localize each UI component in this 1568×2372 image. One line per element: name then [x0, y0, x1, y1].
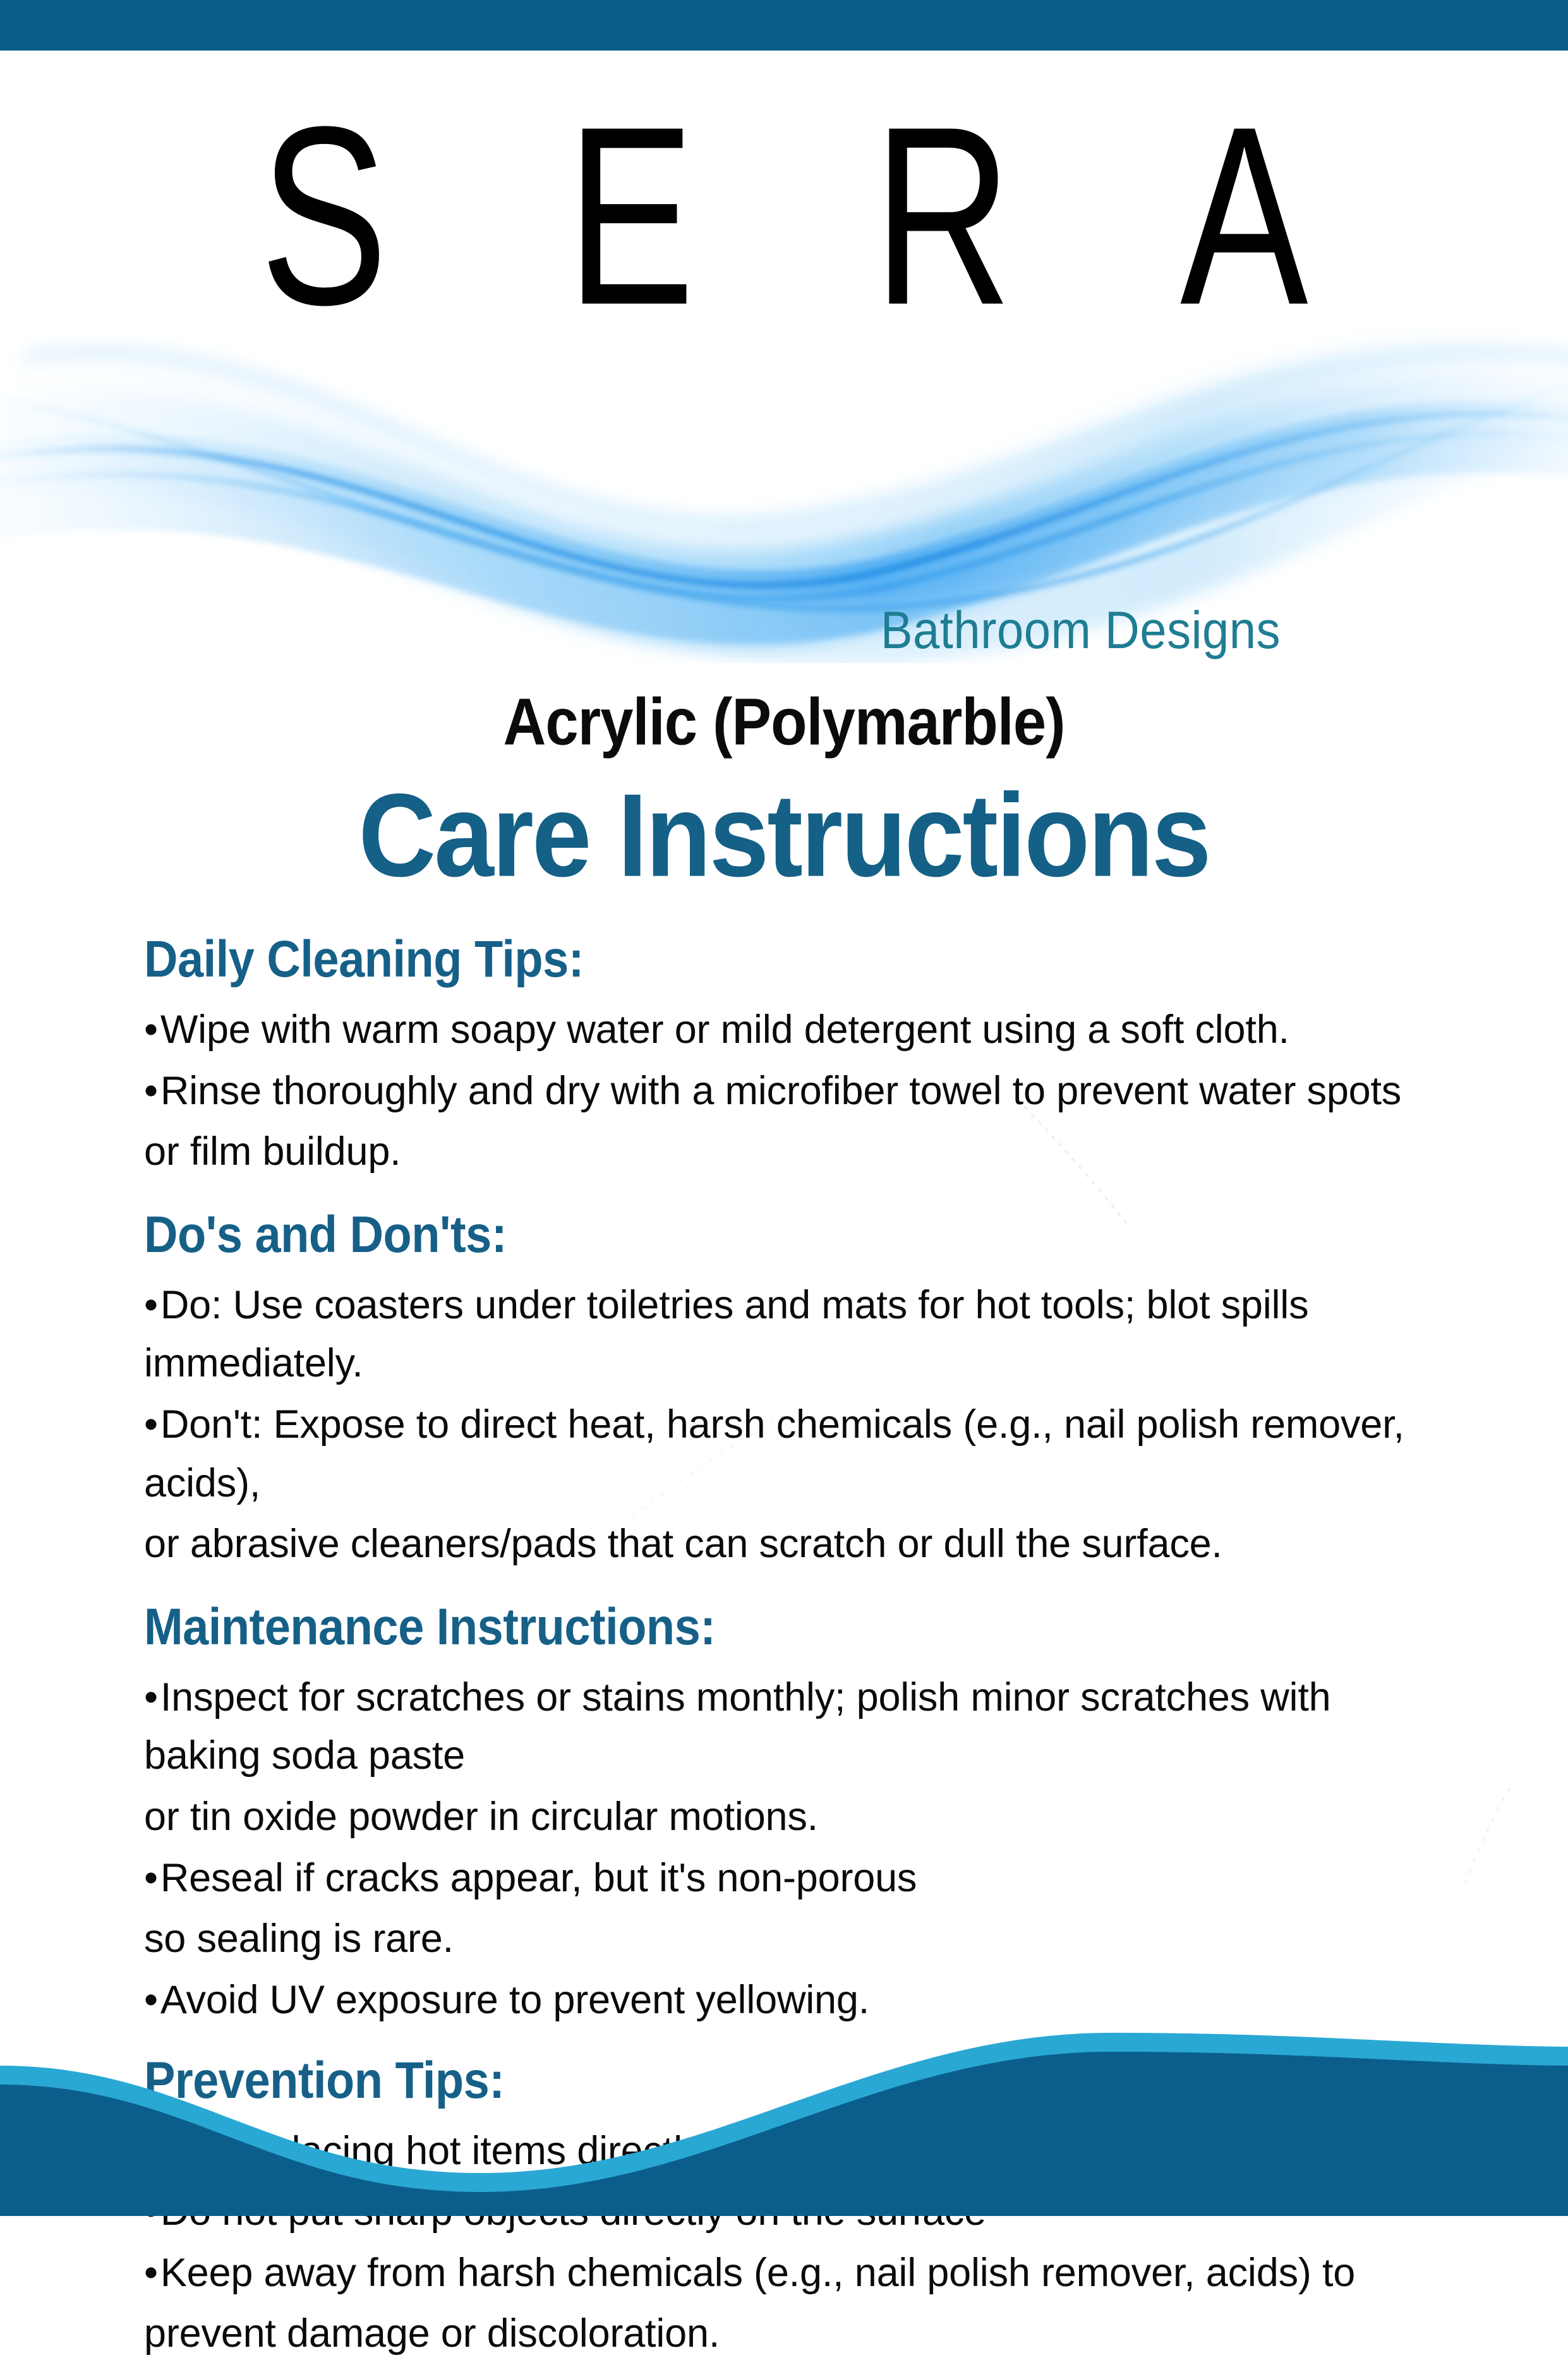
section-dos-and-donts: Do's and Don'ts: •Do: Use coasters under…	[144, 1209, 1426, 1574]
bullet-glyph: •	[144, 2251, 158, 2295]
section-heading: Maintenance Instructions:	[144, 1601, 721, 1653]
logo-wordmark-container: S E R A	[0, 95, 1568, 293]
section-header: Daily Cleaning Tips:	[144, 934, 1426, 992]
section-heading: Daily Cleaning Tips:	[144, 934, 590, 985]
list-item: •Reseal if cracks appear, but it's non-p…	[144, 1849, 1426, 1908]
list-item-text: Don't: Expose to direct heat, harsh chem…	[144, 1402, 1404, 1505]
wave-ribbon-cross	[0, 366, 1568, 663]
bullet-glyph: •	[144, 1675, 158, 1719]
page-title: Care Instructions	[0, 768, 1568, 904]
list-item-continuation: or tin oxide powder in circular motions.	[144, 1788, 1426, 1846]
bullet-glyph: •	[144, 1283, 158, 1327]
section-maintenance-instructions: Maintenance Instructions: •Inspect for s…	[144, 1601, 1426, 2030]
bullet-glyph: •	[144, 1856, 158, 1900]
list-item: •Wipe with warm soapy water or mild dete…	[144, 1001, 1426, 1059]
wave-stroke-4	[25, 352, 1568, 523]
wave-stroke-3	[0, 374, 1568, 609]
bullet-glyph: •	[144, 1008, 158, 1052]
section-rule-gradient	[721, 1619, 1426, 1632]
product-subtitle: Acrylic (Polymarble)	[0, 683, 1568, 760]
list-item: •Inspect for scratches or stains monthly…	[144, 1668, 1426, 1785]
footer-wave-graphic	[0, 2008, 1568, 2216]
section-bullets: •Inspect for scratches or stains monthly…	[144, 1668, 1426, 2030]
section-header: Do's and Don'ts:	[144, 1209, 1426, 1267]
section-bullets: •Wipe with warm soapy water or mild dete…	[144, 1001, 1426, 1181]
list-item-text: Do: Use coasters under toiletries and ma…	[144, 1283, 1308, 1386]
list-item: •Do: Use coasters under toiletries and m…	[144, 1276, 1426, 1393]
wave-stroke-2	[0, 434, 1568, 598]
logo-wordmark: S E R A	[63, 95, 1505, 336]
list-item-text: Rinse thoroughly and dry with a microfib…	[160, 1069, 1401, 1113]
bullet-glyph: •	[144, 1069, 158, 1113]
list-item: •Rinse thoroughly and dry with a microfi…	[144, 1062, 1426, 1121]
list-item: •Don't: Expose to direct heat, harsh che…	[144, 1395, 1426, 1512]
brand-tagline: Bathroom Designs	[881, 600, 1281, 661]
list-item-text: Wipe with warm soapy water or mild deter…	[160, 1008, 1289, 1052]
list-item-text: Inspect for scratches or stains monthly;…	[144, 1675, 1330, 1778]
section-heading: Do's and Don'ts:	[144, 1209, 513, 1260]
section-bullets: •Do: Use coasters under toiletries and m…	[144, 1276, 1426, 1574]
section-daily-cleaning-tips: Daily Cleaning Tips: •Wipe with warm soa…	[144, 934, 1426, 1181]
list-item-continuation: or film buildup.	[144, 1123, 1426, 1181]
watermark-wisp-2	[1447, 1788, 1523, 1889]
list-item-continuation: so sealing is rare.	[144, 1910, 1426, 1968]
wave-ribbon-soft-1	[0, 340, 1568, 634]
wave-ribbon-main	[0, 400, 1568, 644]
list-item: •Keep away from harsh chemicals (e.g., n…	[144, 2244, 1426, 2303]
list-item-text: Reseal if cracks appear, but it's non-po…	[160, 1856, 917, 1900]
list-item-continuation: or abrasive cleaners/pads that can scrat…	[144, 1515, 1426, 1574]
wave-ribbon-soft-2	[0, 375, 1568, 649]
section-rule-gradient	[590, 951, 1426, 965]
bullet-glyph: •	[144, 1402, 158, 1447]
section-header: Maintenance Instructions:	[144, 1601, 1426, 1659]
list-item-text: Keep away from harsh chemicals (e.g., na…	[160, 2251, 1355, 2295]
list-item-continuation: prevent damage or discoloration.	[144, 2304, 1426, 2363]
section-rule-gradient	[513, 1227, 1426, 1240]
wave-stroke-1	[0, 414, 1568, 586]
top-accent-bar	[0, 0, 1568, 51]
